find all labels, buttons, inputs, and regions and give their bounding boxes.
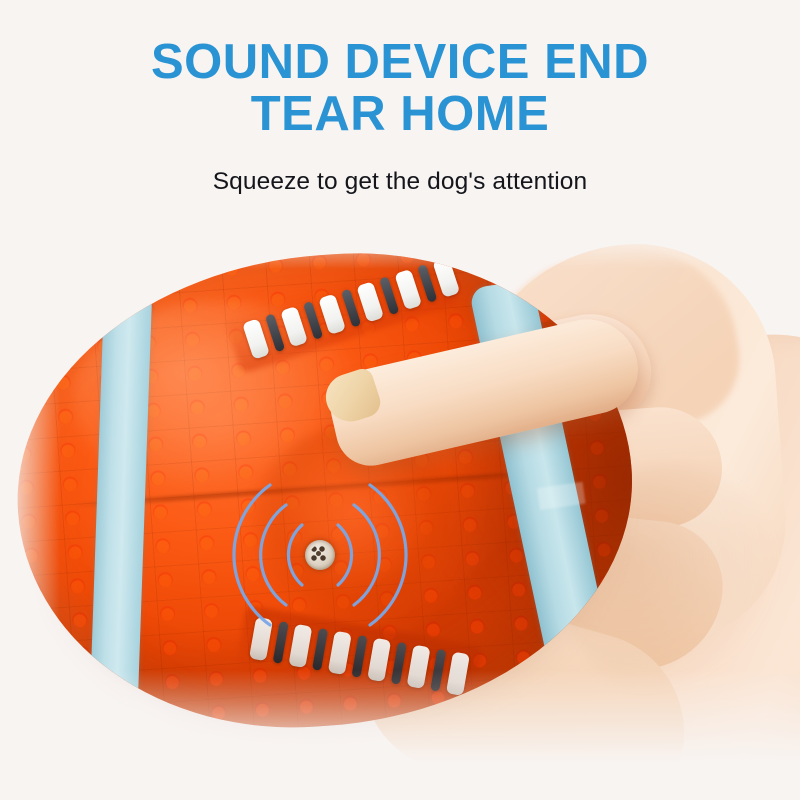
header-text-block: SOUND DEVICE END TEAR HOME Squeeze to ge… [0, 36, 800, 197]
sound-arc-right-3 [370, 485, 406, 625]
lace [280, 306, 308, 347]
sound-arc-left-3 [234, 485, 270, 625]
lace [356, 281, 384, 322]
lace [318, 294, 346, 335]
sound-arc-right-1 [338, 525, 352, 585]
speaker-grille [310, 545, 330, 565]
lace [394, 269, 422, 310]
sound-arc-right-2 [354, 505, 379, 605]
sound-arc-left-2 [261, 505, 286, 605]
page-title: SOUND DEVICE END TEAR HOME [0, 36, 800, 140]
lace-gap [430, 649, 446, 692]
product-banner: SOUND DEVICE END TEAR HOME Squeeze to ge… [0, 0, 800, 800]
product-photo [0, 215, 800, 800]
page-subtitle: Squeeze to get the dog's attention [0, 140, 800, 197]
speaker-hole [305, 540, 335, 570]
sound-arc-left-1 [288, 525, 302, 585]
sound-waves-icon [220, 455, 420, 655]
